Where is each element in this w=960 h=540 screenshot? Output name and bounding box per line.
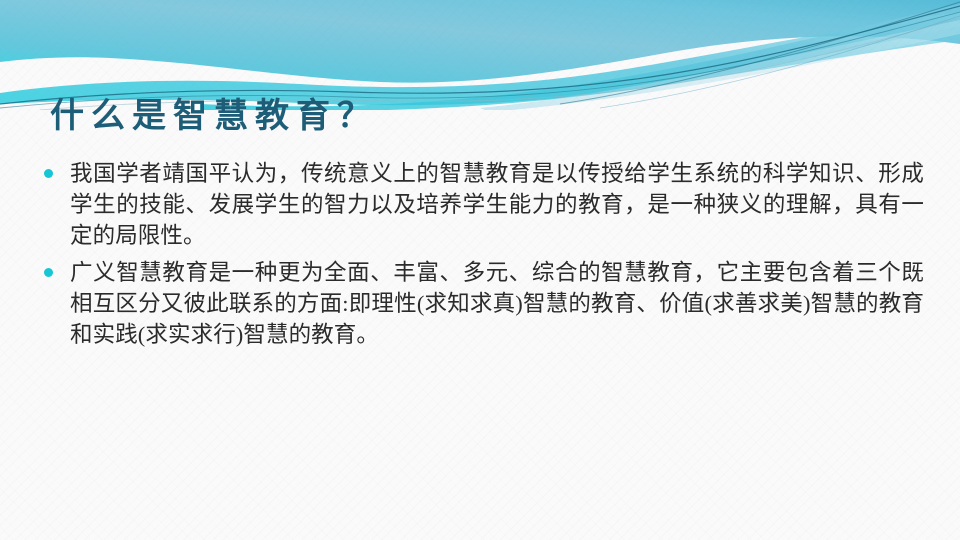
bullet-list: 我国学者靖国平认为，传统意义上的智慧教育是以传授给学生系统的科学知识、形成学生的…	[44, 158, 924, 356]
list-item: 广义智慧教育是一种更为全面、丰富、多元、综合的智慧教育，它主要包含着三个既相互区…	[44, 257, 924, 350]
list-item-text: 广义智慧教育是一种更为全面、丰富、多元、综合的智慧教育，它主要包含着三个既相互区…	[70, 257, 924, 350]
slide-content: 什么是智慧教育？ 我国学者靖国平认为，传统意义上的智慧教育是以传授给学生系统的科…	[0, 0, 960, 540]
bullet-marker	[44, 257, 70, 277]
list-item: 我国学者靖国平认为，传统意义上的智慧教育是以传授给学生系统的科学知识、形成学生的…	[44, 158, 924, 251]
bullet-dot-icon	[44, 169, 53, 178]
bullet-marker	[44, 158, 70, 178]
page-title: 什么是智慧教育？	[50, 96, 378, 137]
bullet-dot-icon	[44, 268, 53, 277]
presentation-slide: 什么是智慧教育？ 我国学者靖国平认为，传统意义上的智慧教育是以传授给学生系统的科…	[0, 0, 960, 540]
list-item-text: 我国学者靖国平认为，传统意义上的智慧教育是以传授给学生系统的科学知识、形成学生的…	[70, 158, 924, 251]
